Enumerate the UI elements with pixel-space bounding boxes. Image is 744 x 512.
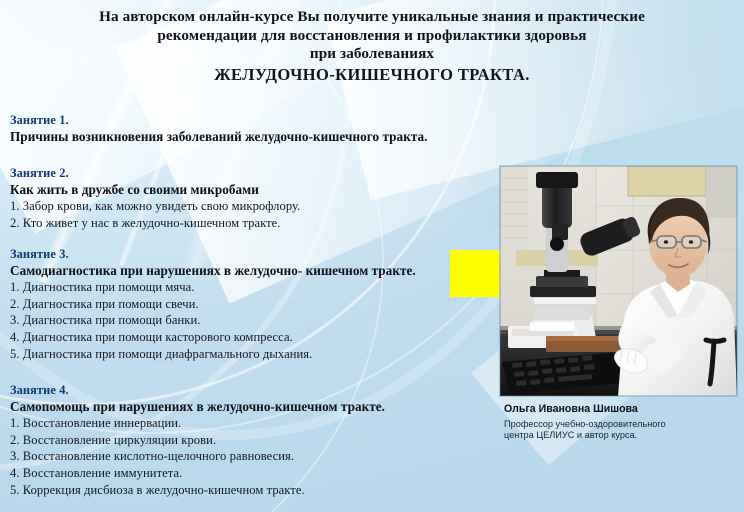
course-program-slide: На авторском онлайн-курсе Вы получите ун… xyxy=(0,0,744,512)
author-photo xyxy=(500,166,737,396)
list-item: 2. Диагностика при помощи свечи. xyxy=(10,296,480,313)
list-item: 1. Диагностика при помощи мяча. xyxy=(10,279,480,296)
lesson-heading: Самопомощь при нарушениях в желудочно-ки… xyxy=(10,398,480,415)
yellow-highlight-rectangle xyxy=(450,250,501,297)
lesson-items: 1. Диагностика при помощи мяча. 2. Диагн… xyxy=(10,279,480,362)
title-emphasis-line: ЖЕЛУДОЧНО-КИШЕЧНОГО ТРАКТА. xyxy=(0,64,744,85)
lesson-number: Занятие 1. xyxy=(10,112,480,128)
title-line-1: На авторском онлайн-курсе Вы получите ун… xyxy=(0,8,744,27)
lesson-heading: Как жить в дружбе со своими микробами xyxy=(10,181,480,198)
author-caption: Ольга Ивановна Шишова Профессор учебно-о… xyxy=(504,402,738,442)
spacer xyxy=(10,147,480,165)
lesson-block-3: Занятие 3. Самодиагностика при нарушения… xyxy=(10,246,480,362)
lesson-number: Занятие 3. xyxy=(10,246,480,262)
lesson-heading: Самодиагностика при нарушениях в желудоч… xyxy=(10,262,480,279)
lesson-block-2: Занятие 2. Как жить в дружбе со своими м… xyxy=(10,165,480,231)
lesson-number: Занятие 4. xyxy=(10,382,480,398)
spacer xyxy=(10,233,480,246)
lesson-heading: Причины возникновения заболеваний желудо… xyxy=(10,128,480,145)
list-item: 4. Диагностика при помощи касторового ко… xyxy=(10,329,480,346)
spacer xyxy=(10,364,480,382)
list-item: 5. Диагностика при помощи диафрагмальног… xyxy=(10,346,480,363)
list-item: 3. Восстановление кислотно-щелочного рав… xyxy=(10,448,480,465)
list-item: 1. Восстановление иннервации. xyxy=(10,415,480,432)
list-item: 5. Коррекция дисбиоза в желудочно-кишечн… xyxy=(10,482,480,499)
author-role-line-1: Профессор учебно-оздоровительного xyxy=(504,419,738,430)
slide-title: На авторском онлайн-курсе Вы получите ун… xyxy=(0,8,744,85)
lesson-list: Занятие 1. Причины возникновения заболев… xyxy=(10,112,480,500)
author-photo-illustration xyxy=(500,166,737,396)
list-item: 1. Забор крови, как можно увидеть свою м… xyxy=(10,198,480,215)
lesson-block-1: Занятие 1. Причины возникновения заболев… xyxy=(10,112,480,145)
list-item: 2. Восстановление циркуляции крови. xyxy=(10,432,480,449)
list-item: 4. Восстановление иммунитета. xyxy=(10,465,480,482)
title-line-3: при заболеваниях xyxy=(0,45,744,64)
title-line-2: рекомендации для восстановления и профил… xyxy=(0,27,744,46)
lesson-items: 1. Забор крови, как можно увидеть свою м… xyxy=(10,198,480,231)
lesson-items: 1. Восстановление иннервации. 2. Восстан… xyxy=(10,415,480,498)
author-name: Ольга Ивановна Шишова xyxy=(504,402,738,416)
list-item: 2. Кто живет у нас в желудочно-кишечном … xyxy=(10,215,480,232)
author-role-line-2: центра ЦЕЛИУС и автор курса. xyxy=(504,430,738,441)
lesson-number: Занятие 2. xyxy=(10,165,480,181)
list-item: 3. Диагностика при помощи банки. xyxy=(10,312,480,329)
lesson-block-4: Занятие 4. Самопомощь при нарушениях в ж… xyxy=(10,382,480,498)
